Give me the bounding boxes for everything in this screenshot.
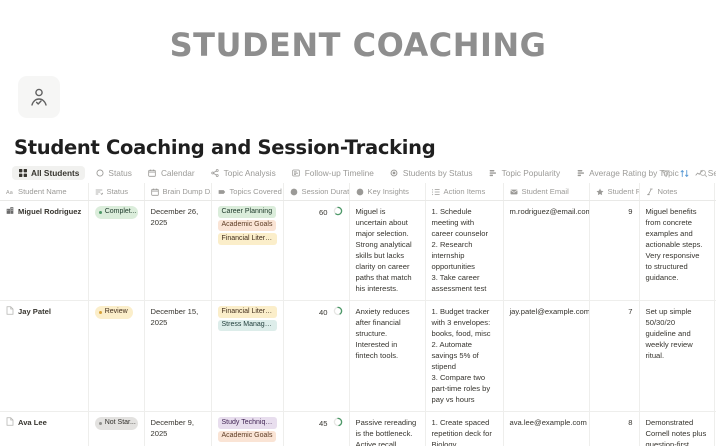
cell-brain-dump-date[interactable]: December 9, 2025: [144, 412, 211, 446]
status-label: Review: [105, 307, 128, 317]
status-dot: [99, 422, 102, 425]
database-table[interactable]: Aa Student Name Status: [0, 183, 716, 446]
tab-status[interactable]: Status: [89, 166, 138, 180]
cell-notes[interactable]: Demonstrated Cornell notes plus question…: [639, 412, 714, 446]
grid-icon: [18, 169, 27, 178]
tab-label: Status: [108, 168, 132, 178]
tab-students-by-status[interactable]: Students by Status: [384, 166, 479, 180]
tab-calendar[interactable]: Calendar: [142, 166, 201, 180]
cell-student-email[interactable]: jay.patel@example.com: [503, 301, 589, 412]
pencil-icon: [646, 188, 654, 196]
cell-topics-covered[interactable]: Study TechniquesAcademic Goals: [211, 412, 283, 446]
column-header-topics-covered[interactable]: Topics Covered: [211, 183, 283, 201]
status-dot: [99, 211, 102, 214]
tab-label: Calendar: [161, 168, 195, 178]
cover-banner: STUDENT COACHING: [0, 0, 716, 118]
cell-student-name[interactable]: Ava Lee: [0, 412, 88, 446]
topic-tag[interactable]: Academic Goals: [218, 220, 277, 232]
column-label: Notes: [658, 186, 678, 197]
cell-student-email[interactable]: ava.lee@example.com: [503, 412, 589, 446]
tab-topic-popularity[interactable]: Topic Popularity: [483, 166, 567, 180]
cell-brain-dump-date[interactable]: December 15, 2025: [144, 301, 211, 412]
column-label: Student Rating: [608, 186, 640, 197]
circle-icon: [95, 169, 104, 178]
tab-followup-timeline[interactable]: Follow-up Timeline: [286, 166, 380, 180]
timeline-icon: [292, 169, 301, 178]
topic-tag[interactable]: Career Planning: [218, 206, 277, 218]
progress-ring: [333, 306, 343, 319]
page-icon: [6, 417, 14, 426]
cell-session-duration[interactable]: 60: [283, 201, 349, 301]
status-label: Not Star...: [105, 418, 136, 428]
cell-notes[interactable]: Set up simple 50/30/20 guideline and wee…: [639, 301, 714, 412]
number-icon: [290, 188, 298, 196]
status-badge[interactable]: Review: [95, 306, 133, 319]
column-header-brain-dump-date[interactable]: Brain Dump D...: [144, 183, 211, 201]
table-row[interactable]: Ava LeeNot Star...December 9, 2025Study …: [0, 412, 716, 446]
column-header-student-email[interactable]: Student Email: [503, 183, 589, 201]
column-label: Session Duration (min): [302, 186, 350, 197]
cell-key-insights[interactable]: Anxiety reduces after financial structur…: [349, 301, 425, 412]
share-icon: [211, 169, 220, 178]
bar-chart-icon: [489, 169, 498, 178]
cell-action-items[interactable]: 1. Schedule meeting with career counselo…: [425, 201, 503, 301]
multiselect-icon: [218, 188, 226, 196]
column-header-action-items[interactable]: Action Items: [425, 183, 503, 201]
status-badge[interactable]: Complet...: [95, 206, 138, 219]
column-header-notes[interactable]: Notes: [639, 183, 714, 201]
column-label: Student Email: [522, 186, 569, 197]
table-header-row: Aa Student Name Status: [0, 183, 716, 201]
page-title: Student Coaching and Session-Tracking: [14, 136, 435, 159]
column-header-key-insights[interactable]: Key Insights: [349, 183, 425, 201]
topic-tag[interactable]: Financial Literacy: [218, 233, 277, 245]
cell-action-items[interactable]: 1. Budget tracker with 3 envelopes: book…: [425, 301, 503, 412]
progress-ring: [333, 417, 343, 430]
cell-session-duration[interactable]: 40: [283, 301, 349, 412]
text-aa-icon: Aa: [6, 188, 14, 196]
status-badge[interactable]: Not Star...: [95, 417, 138, 430]
cell-brain-dump-date[interactable]: December 26, 2025: [144, 201, 211, 301]
cell-key-insights[interactable]: Passive rereading is the bottleneck. Act…: [349, 412, 425, 446]
donut-icon: [390, 169, 399, 178]
cell-student-rating[interactable]: 9: [589, 201, 639, 301]
topic-tag[interactable]: Stress Managem...: [218, 320, 277, 332]
cell-session-duration[interactable]: 45: [283, 412, 349, 446]
duration-value: 60: [319, 207, 327, 218]
column-label: Student Name: [18, 186, 67, 197]
cell-key-insights[interactable]: Miguel is uncertain about major selectio…: [349, 201, 425, 301]
cell-topics-covered[interactable]: Financial LiteracyStress Managem...: [211, 301, 283, 412]
search-icon[interactable]: [698, 168, 708, 178]
topic-tag[interactable]: Academic Goals: [218, 431, 277, 443]
mail-icon: [510, 188, 518, 196]
tab-label: Sessions Over Time (Wee...: [708, 168, 716, 178]
star-icon: [596, 188, 604, 196]
svg-text:Aa: Aa: [6, 190, 13, 196]
building-icon: [6, 206, 14, 215]
cell-action-items[interactable]: 1. Create spaced repetition deck for Bio…: [425, 412, 503, 446]
cell-student-email[interactable]: m.rodriguez@email.com: [503, 201, 589, 301]
column-label: Action Items: [444, 186, 486, 197]
person-check-icon[interactable]: [18, 76, 60, 118]
cell-student-name[interactable]: Jay Patel: [0, 301, 88, 412]
select-icon: [95, 188, 103, 196]
bar-chart-icon: [576, 169, 585, 178]
column-label: Topics Covered: [230, 186, 282, 197]
sort-icon[interactable]: [679, 168, 689, 178]
column-label: Brain Dump D...: [163, 186, 212, 197]
cell-student-rating[interactable]: 7: [589, 301, 639, 412]
cover-title: STUDENT COACHING: [0, 26, 716, 64]
tab-label: Follow-up Timeline: [305, 168, 374, 178]
table-body: Miguel RodriguezComplet...December 26, 2…: [0, 201, 716, 446]
status-dot: [99, 311, 102, 314]
calendar-icon: [148, 169, 157, 178]
filter-icon[interactable]: [660, 168, 670, 178]
column-header-student-rating[interactable]: Student Rating: [589, 183, 639, 201]
tab-label: Topic Popularity: [502, 168, 561, 178]
cell-student-name[interactable]: Miguel Rodriguez: [0, 201, 88, 301]
column-label: Key Insights: [368, 186, 409, 197]
view-toolbar: [660, 163, 708, 183]
topic-tag[interactable]: Financial Literacy: [218, 306, 277, 318]
cell-status[interactable]: Not Star...: [88, 412, 144, 446]
page-root: STUDENT COACHING Student Coaching and Se…: [0, 0, 716, 446]
cell-topics-covered[interactable]: Career PlanningAcademic GoalsFinancial L…: [211, 201, 283, 301]
duration-value: 40: [319, 307, 327, 318]
cell-notes[interactable]: Miguel benefits from concrete examples a…: [639, 201, 714, 301]
tab-label: All Students: [31, 168, 79, 178]
page-icon: [6, 306, 14, 315]
table-row[interactable]: Miguel RodriguezComplet...December 26, 2…: [0, 201, 716, 301]
student-name-text: Ava Lee: [18, 417, 47, 428]
student-name-text: Miguel Rodriguez: [18, 206, 81, 217]
cell-student-rating[interactable]: 8: [589, 412, 639, 446]
view-tabbar: All Students Status Calendar Topic Analy…: [0, 163, 716, 183]
tab-topic-analysis[interactable]: Topic Analysis: [205, 166, 282, 180]
calendar-icon: [151, 188, 159, 196]
status-label: Complet...: [105, 207, 137, 217]
cell-status[interactable]: Review: [88, 301, 144, 412]
column-header-student-name[interactable]: Aa Student Name: [0, 183, 88, 201]
column-header-status[interactable]: Status: [88, 183, 144, 201]
tab-label: Students by Status: [403, 168, 473, 178]
tab-label: Topic Analysis: [224, 168, 276, 178]
student-name-text: Jay Patel: [18, 306, 51, 317]
cell-status[interactable]: Complet...: [88, 201, 144, 301]
duration-value: 45: [319, 418, 327, 429]
column-label: Status: [107, 186, 129, 197]
topic-tag[interactable]: Study Techniques: [218, 417, 277, 429]
tab-all-students[interactable]: All Students: [12, 166, 85, 180]
column-header-session-duration[interactable]: Session Duration (min): [283, 183, 349, 201]
list-icon: [432, 188, 440, 196]
table-row[interactable]: Jay PatelReviewDecember 15, 2025Financia…: [0, 301, 716, 412]
text-icon: [356, 188, 364, 196]
progress-ring: [333, 206, 343, 219]
